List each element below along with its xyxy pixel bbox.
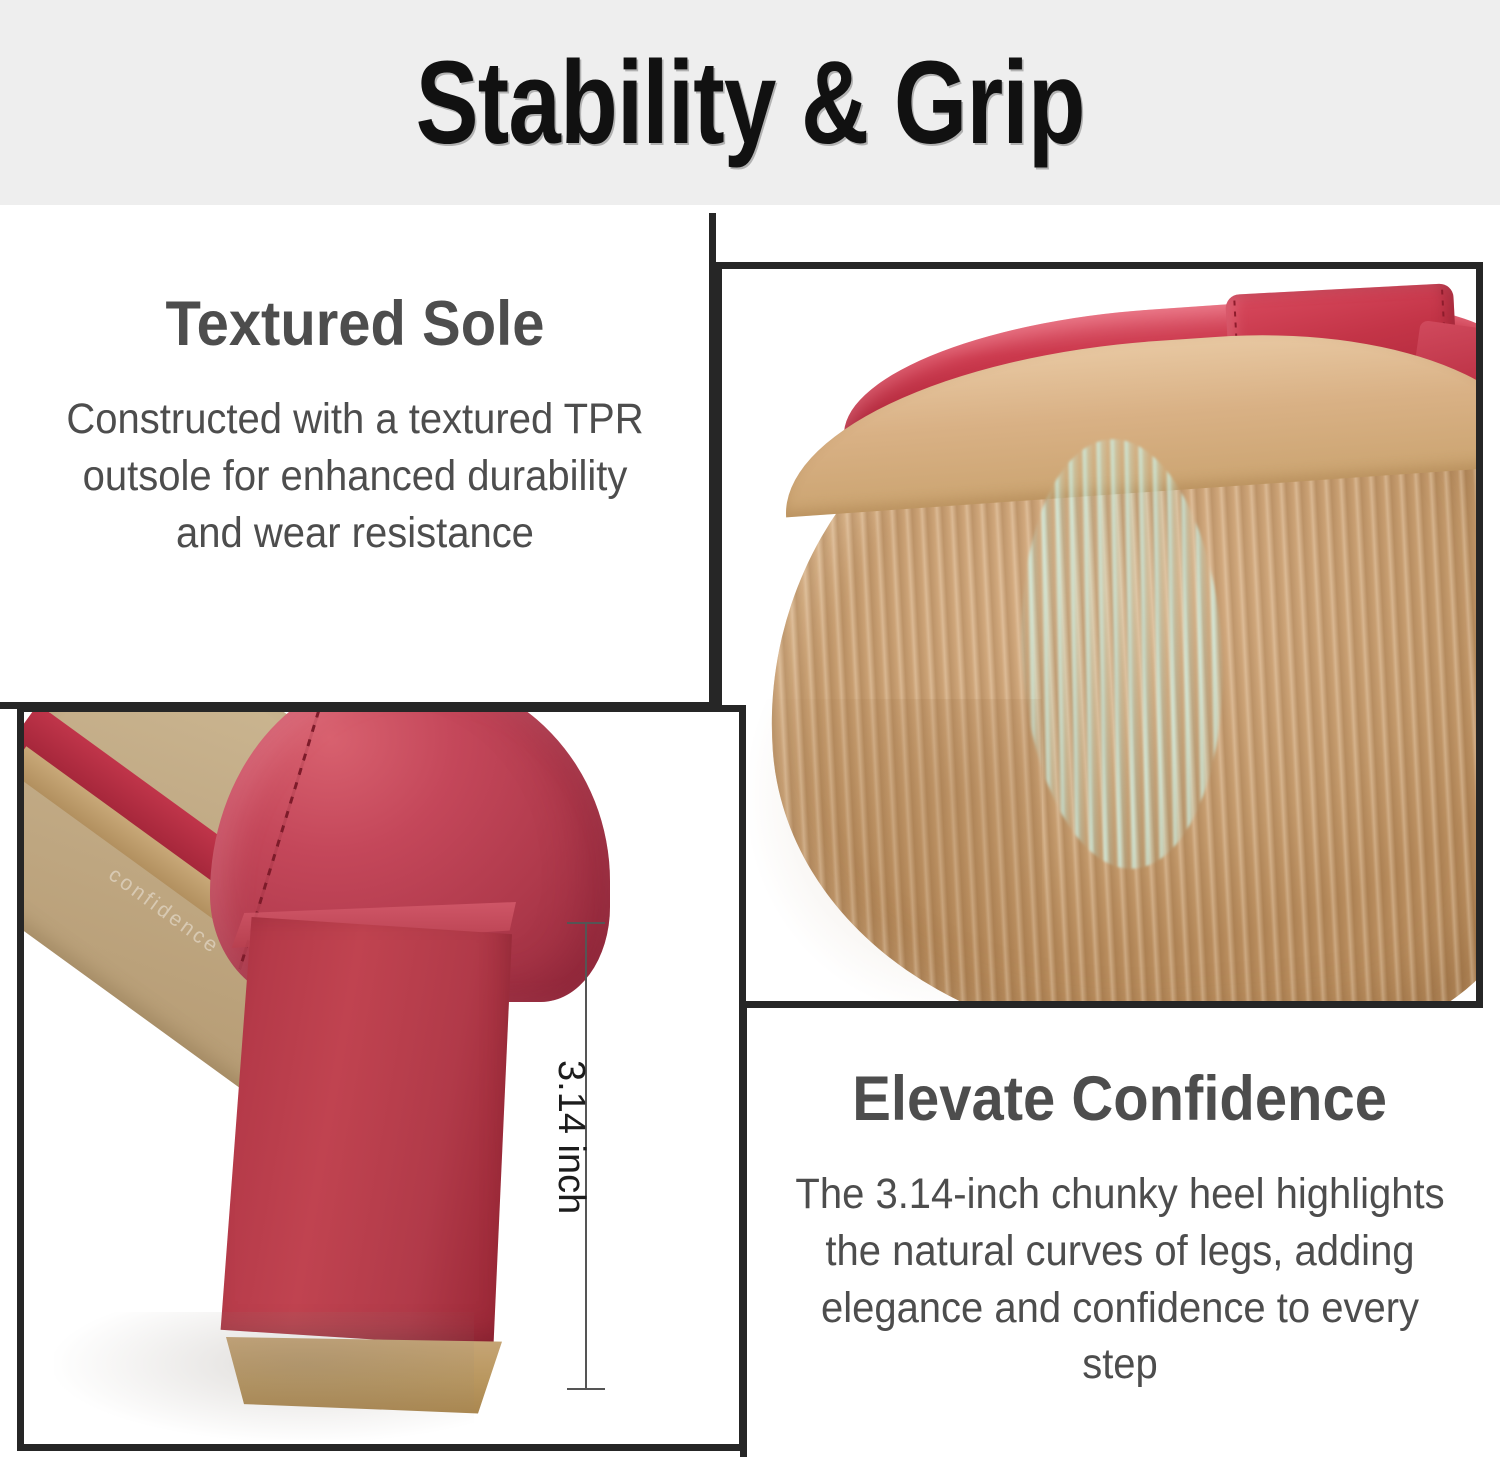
outsole-photo bbox=[722, 269, 1476, 1001]
feature-heading-elevate-confidence: Elevate Confidence bbox=[852, 1066, 1387, 1132]
dimension-label: 3.14 inch bbox=[549, 1060, 592, 1214]
heel-block bbox=[202, 917, 512, 1347]
header-banner: Stability & Grip bbox=[0, 0, 1500, 205]
feature-heading-textured-sole: Textured Sole bbox=[165, 291, 544, 357]
feature-body-elevate-confidence: The 3.14-inch chunky heel highlights the… bbox=[794, 1166, 1445, 1393]
page-title: Stability & Grip bbox=[415, 44, 1084, 162]
outsole-shadow bbox=[742, 699, 1042, 1001]
feature-block-textured-sole: Textured Sole Constructed with a texture… bbox=[0, 213, 716, 709]
photo-panel-outsole bbox=[715, 262, 1483, 1008]
heel-height-dimension: 3.14 inch bbox=[540, 910, 640, 1410]
feature-body-textured-sole: Constructed with a textured TPR outsole … bbox=[48, 391, 662, 561]
feature-block-elevate-confidence: Elevate Confidence The 3.14-inch chunky … bbox=[740, 1008, 1500, 1457]
dimension-cap-bottom bbox=[567, 1388, 605, 1390]
heel-ground-shadow bbox=[54, 1312, 474, 1442]
